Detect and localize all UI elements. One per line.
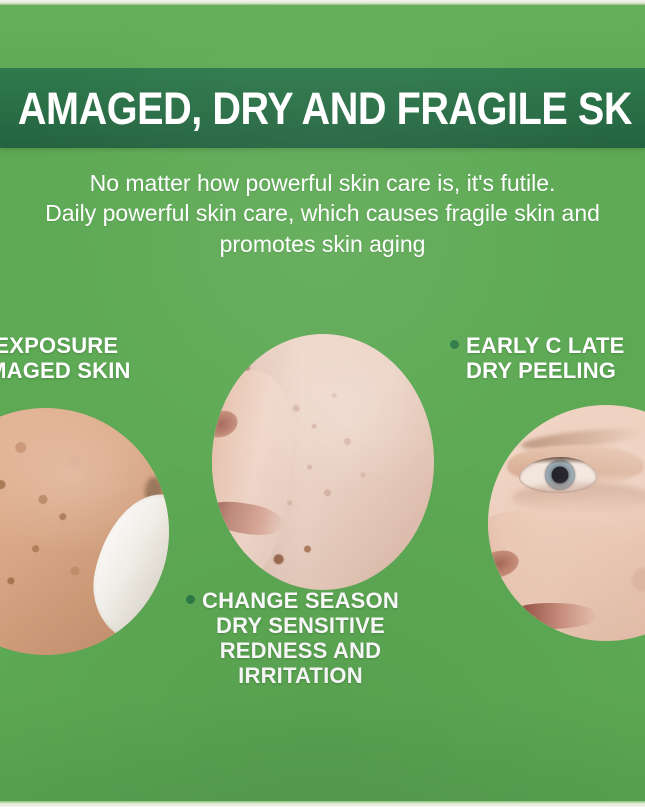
callout-left-line-1: N EXPOSURE	[0, 333, 131, 358]
white-collar	[82, 484, 169, 651]
callout-label-right: EARLY C LATE DRY PEELING	[450, 333, 624, 383]
bottom-edge-strip	[0, 801, 645, 807]
top-edge-strip	[0, 0, 645, 5]
sun-damaged-skin-photo	[0, 408, 169, 655]
callout-center-line-1: CHANGE SEASON	[186, 588, 399, 613]
subtitle-line-3: promotes skin aging	[0, 229, 645, 259]
callout-right-text-1: EARLY C LATE	[466, 333, 624, 358]
title-banner: AMAGED, DRY AND FRAGILE SK	[0, 68, 645, 148]
callout-center-line-2: DRY SENSITIVE	[202, 613, 399, 638]
bullet-dot-icon	[186, 595, 195, 604]
callout-left-line-2: AMAGED SKIN	[0, 358, 131, 383]
callout-right-line-1: EARLY C LATE	[450, 333, 624, 358]
sensitive-skin-closeup-photo	[212, 334, 434, 590]
subtitle-line-1: No matter how powerful skin care is, it'…	[0, 168, 645, 198]
callout-center-line-3: REDNESS AND	[202, 638, 399, 663]
page-title: AMAGED, DRY AND FRAGILE SK	[17, 86, 631, 131]
under-eye-shadow	[512, 483, 645, 513]
subtitle-block: No matter how powerful skin care is, it'…	[0, 168, 645, 259]
subtitle-line-2: Daily powerful skin care, which causes f…	[0, 198, 645, 228]
infographic-page: AMAGED, DRY AND FRAGILE SK No matter how…	[0, 0, 645, 807]
callout-center-line-4: IRRITATION	[202, 663, 399, 688]
callout-right-line-2: DRY PEELING	[466, 358, 624, 383]
callout-label-left: N EXPOSURE AMAGED SKIN	[0, 333, 131, 383]
callout-label-center: CHANGE SEASON DRY SENSITIVE REDNESS AND …	[186, 588, 399, 688]
bullet-dot-icon	[450, 340, 459, 349]
callout-center-text-1: CHANGE SEASON	[202, 588, 399, 613]
lash-line	[519, 457, 597, 464]
lip-shape	[502, 603, 598, 629]
dry-peeling-face-photo	[488, 405, 645, 641]
